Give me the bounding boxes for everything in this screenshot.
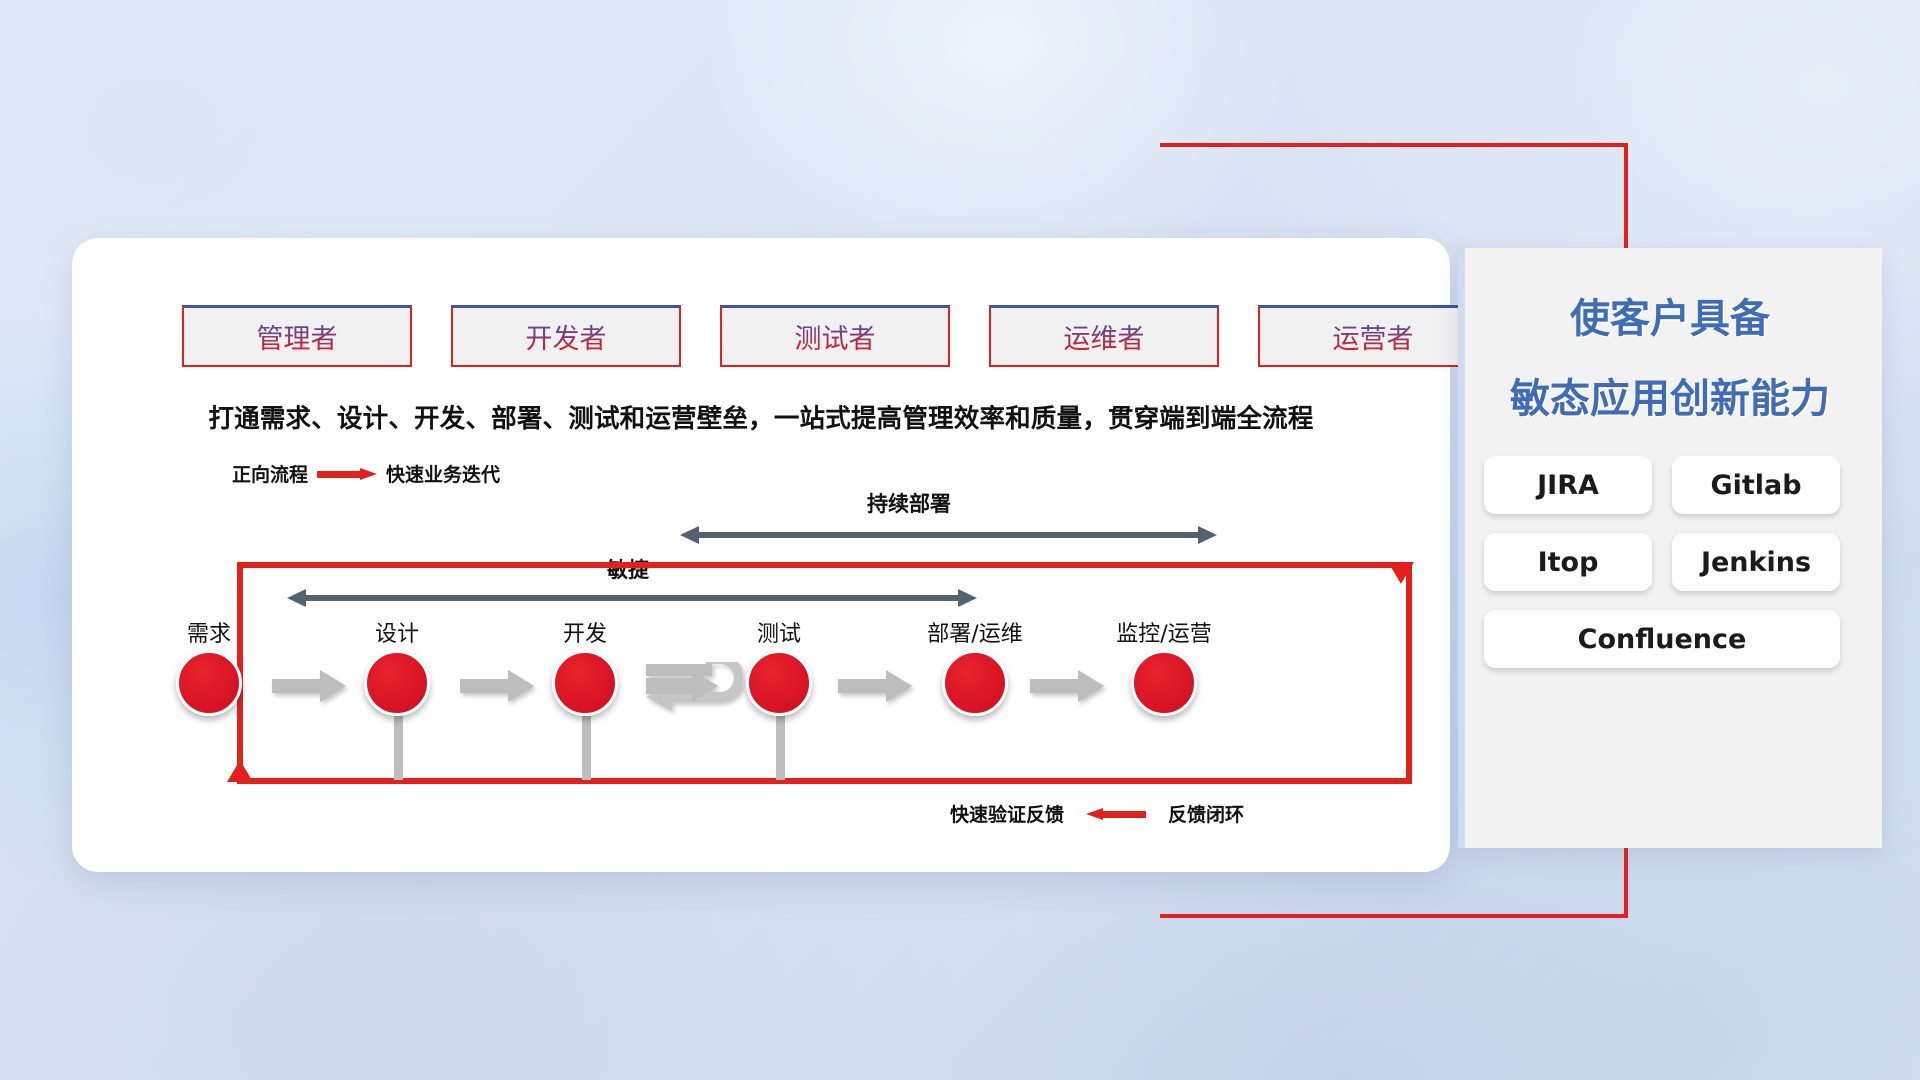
role-label: 运营者 <box>1333 317 1414 356</box>
role-box-row: 管理者 开发者 测试者 运维者 运营者 <box>182 305 1488 367</box>
node-label: 需求 <box>187 616 231 648</box>
tool-chip-gitlab[interactable]: Gitlab <box>1672 456 1840 514</box>
node-dot <box>942 650 1008 716</box>
legend-feedback-left-label: 快速验证反馈 <box>950 800 1064 827</box>
double-arrow-continuous-deploy-icon <box>680 526 1217 544</box>
red-loop-arrowhead-down-icon <box>1388 562 1414 584</box>
legend-feedback-right-label: 反馈闭环 <box>1168 800 1244 827</box>
legend-feedback-loop: 快速验证反馈 反馈闭环 <box>950 800 1244 827</box>
pipeline: 需求 设计 开发 测试 部署/运维 监控/运营 <box>176 620 1406 730</box>
role-label: 开发者 <box>526 317 607 356</box>
role-box-manager[interactable]: 管理者 <box>182 305 412 367</box>
node-label: 设计 <box>375 616 419 648</box>
role-box-operator[interactable]: 运营者 <box>1258 305 1488 367</box>
node-label: 测试 <box>757 616 801 648</box>
role-box-developer[interactable]: 开发者 <box>451 305 681 367</box>
role-box-tester[interactable]: 测试者 <box>720 305 950 367</box>
red-left-arrow-icon <box>1086 808 1146 820</box>
panel-accent-bar <box>1458 248 1465 848</box>
node-label: 开发 <box>563 616 607 648</box>
gray-cycle-arrow-dev-test-icon <box>646 662 742 720</box>
gray-arrow-deploy-to-monitor-icon <box>1030 670 1104 702</box>
legend-forward-flow: 正向流程 快速业务迭代 <box>232 460 500 487</box>
tool-chip-itop[interactable]: Itop <box>1484 533 1652 591</box>
main-card: 管理者 开发者 测试者 运维者 运营者 打通需求、设计、开发、部署、测试和运营壁… <box>72 238 1450 872</box>
tool-chip-jenkins[interactable]: Jenkins <box>1672 533 1840 591</box>
node-dot <box>1131 650 1197 716</box>
role-label: 运维者 <box>1064 317 1145 356</box>
legend-forward-right-label: 快速业务迭代 <box>386 460 500 487</box>
role-label: 管理者 <box>257 317 338 356</box>
role-label: 测试者 <box>795 317 876 356</box>
gray-arrow-req-to-design-icon <box>272 670 346 702</box>
role-box-ops[interactable]: 运维者 <box>989 305 1219 367</box>
node-label: 监控/运营 <box>1116 616 1211 648</box>
tool-chip-jira[interactable]: JIRA <box>1484 456 1652 514</box>
gray-arrow-design-to-dev-icon <box>460 670 534 702</box>
node-dot <box>552 650 618 716</box>
gray-arrow-test-to-deploy-icon <box>838 670 912 702</box>
node-dot <box>176 650 242 716</box>
panel-title-line1: 使客户具备 <box>1458 286 1882 344</box>
legend-forward-left-label: 正向流程 <box>232 460 308 487</box>
right-panel: 使客户具备 敏态应用创新能力 JIRA Gitlab Itop Jenkins … <box>1458 248 1882 848</box>
node-dot <box>364 650 430 716</box>
tool-chip-grid: JIRA Gitlab Itop Jenkins Confluence <box>1484 456 1856 668</box>
tagline-text: 打通需求、设计、开发、部署、测试和运营壁垒，一站式提高管理效率和质量，贯穿端到端… <box>72 398 1450 435</box>
panel-title-line2: 敏态应用创新能力 <box>1458 366 1882 424</box>
span-label-continuous-deploy: 持续部署 <box>867 488 951 518</box>
node-dot <box>746 650 812 716</box>
tool-chip-confluence[interactable]: Confluence <box>1484 610 1840 668</box>
node-label: 部署/运维 <box>927 616 1022 648</box>
red-loop-arrowhead-up-icon <box>227 760 253 782</box>
red-right-arrow-icon <box>317 468 377 480</box>
